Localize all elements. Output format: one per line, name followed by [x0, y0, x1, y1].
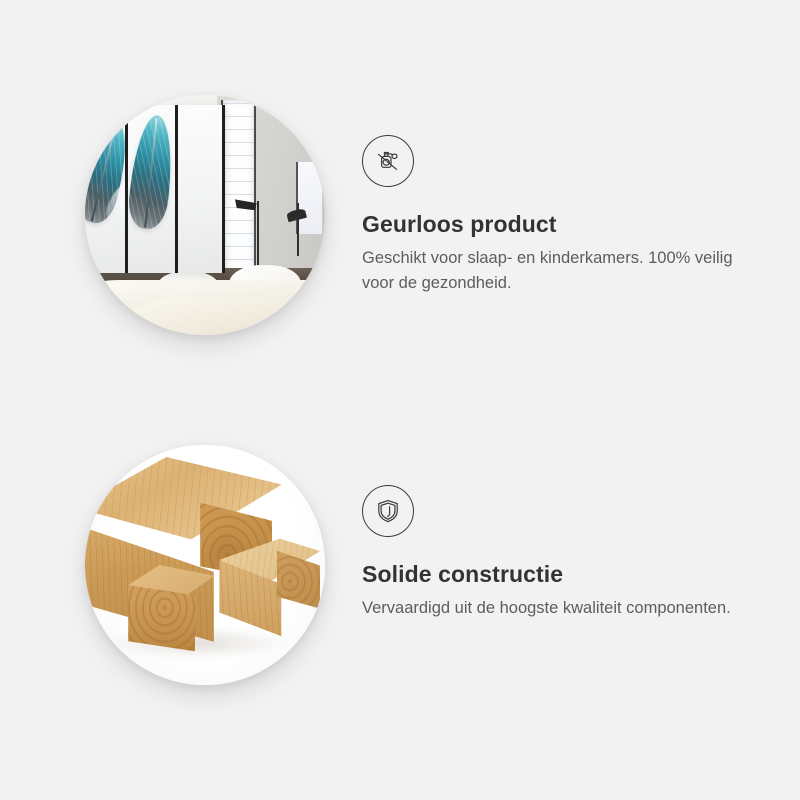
feature-description: Geschikt voor slaap- en kinderkamers. 10…: [362, 246, 754, 296]
photo-inner: [85, 95, 325, 335]
page-title: Solide constructie: [362, 561, 782, 588]
floor-lamp-pole: [257, 201, 259, 268]
feature-block-odourless: Geurloos product Geschikt voor slaap- en…: [0, 45, 800, 400]
product-features-page: Geurloos product Geschikt voor slaap- en…: [0, 0, 800, 800]
canvas-panel-divider: [175, 105, 178, 273]
wooden-blocks-scene: [85, 445, 325, 685]
bedroom-feather-canvas-photo: [85, 95, 325, 335]
feature-description: Vervaardigd uit de hoogste kwaliteit com…: [362, 596, 754, 621]
page-title: Geurloos product: [362, 211, 782, 238]
canvas-panel-divider: [125, 105, 128, 273]
feather-middle: [126, 113, 177, 231]
window: [221, 100, 256, 273]
bedroom-scene: [85, 95, 325, 335]
feather-canvas-artwork: [85, 105, 224, 273]
feature-block-solid-construction: Solide constructie Vervaardigd uit de ho…: [0, 395, 800, 750]
wooden-blocks-photo: [85, 445, 325, 685]
shield-icon: [362, 485, 414, 537]
blanket: [128, 297, 296, 335]
no-perfume-icon: [362, 135, 414, 187]
photo-inner: [85, 445, 325, 685]
window-right: [296, 162, 322, 234]
canvas-panel-divider: [222, 105, 225, 273]
